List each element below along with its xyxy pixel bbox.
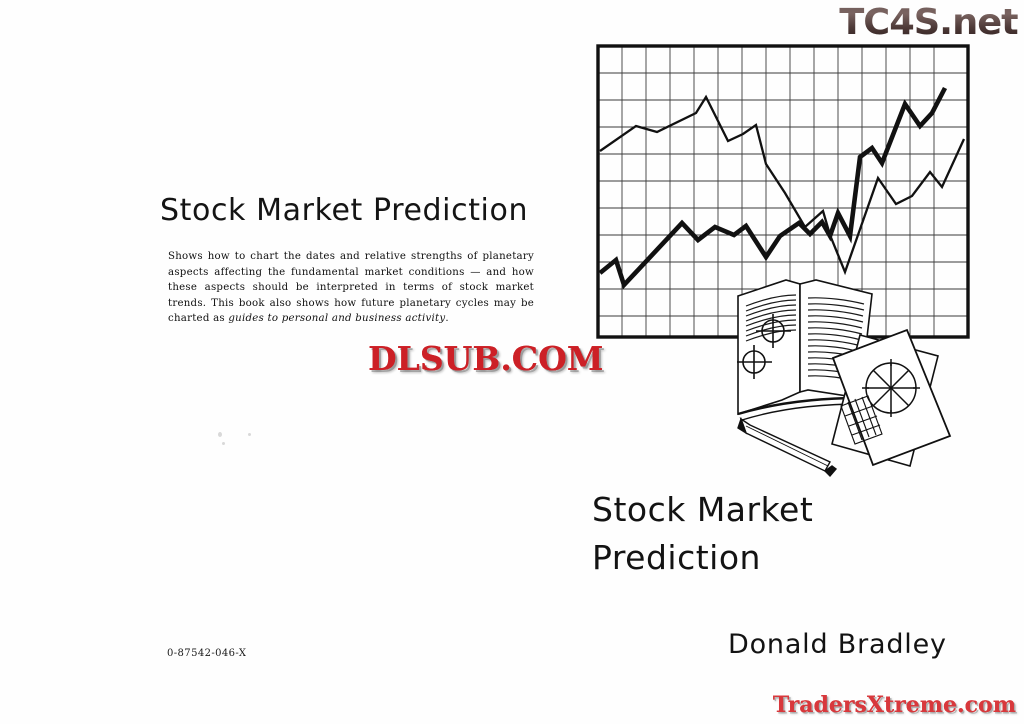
back-cover-blurb: Shows how to chart the dates and relativ… bbox=[168, 249, 534, 327]
cover-illustration bbox=[560, 0, 1024, 724]
pencil-icon bbox=[738, 419, 836, 476]
book-cover-page: Stock Market Prediction Shows how to cha… bbox=[0, 0, 1024, 724]
front-cover-author: Donald Bradley bbox=[728, 629, 947, 660]
front-cover-title-line1: Stock Market bbox=[592, 486, 1012, 534]
front-cover-title: Stock Market Prediction bbox=[592, 486, 1012, 582]
blurb-text-italic: guides to personal and business activity bbox=[228, 313, 445, 324]
chart-series-thin bbox=[600, 97, 964, 272]
back-cover-panel: Stock Market Prediction Shows how to cha… bbox=[0, 0, 560, 724]
front-cover-panel: Stock Market Prediction Donald Bradley bbox=[560, 0, 1024, 724]
chart-series-thick bbox=[600, 88, 945, 285]
front-cover-title-line2: Prediction bbox=[592, 534, 1012, 582]
scan-speck bbox=[222, 442, 225, 445]
back-cover-title: Stock Market Prediction bbox=[160, 193, 560, 228]
isbn-number: 0-87542-046-X bbox=[167, 648, 246, 659]
scan-speck bbox=[218, 432, 222, 437]
blurb-text-end: . bbox=[445, 313, 449, 324]
scan-speck bbox=[248, 433, 251, 436]
